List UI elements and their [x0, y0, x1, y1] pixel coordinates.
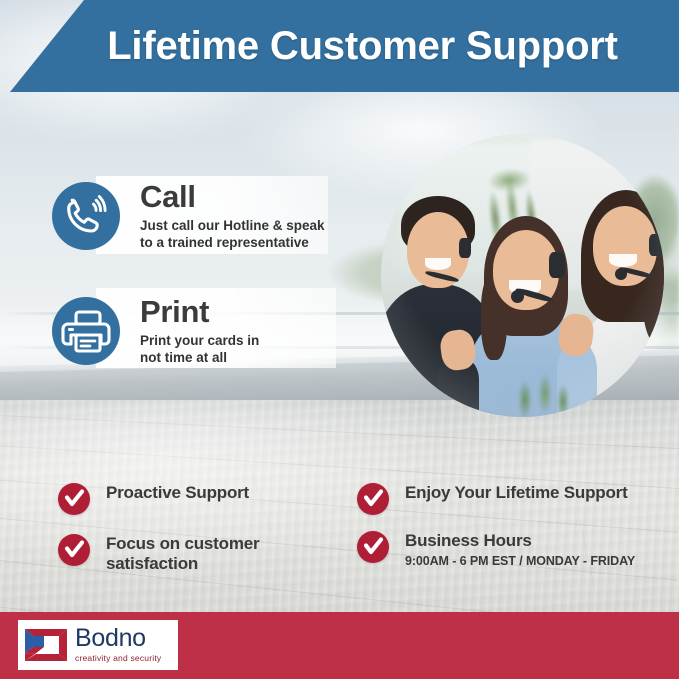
list-item[interactable]: Focus on customer satisfaction	[58, 534, 259, 574]
brand-tagline: creativity and security	[75, 653, 161, 663]
poster-canvas: Lifetime Customer Support Call Just call…	[0, 0, 679, 679]
feature-print-description: Print your cards in not time at all	[140, 333, 259, 367]
list-item-text: Focus on customer satisfaction	[106, 534, 259, 574]
brand-logo[interactable]: Bodno creativity and security	[18, 620, 178, 670]
list-item-title: Focus on customer satisfaction	[106, 534, 259, 574]
list-item[interactable]: Business Hours 9:00AM - 6 PM EST / MONDA…	[357, 531, 635, 569]
feature-call-description: Just call our Hotline & speak to a train…	[140, 218, 325, 252]
list-item-text: Enjoy Your Lifetime Support	[405, 483, 628, 503]
list-item-title: Business Hours	[405, 531, 635, 551]
list-item-text: Proactive Support	[106, 483, 249, 503]
team-photo	[381, 134, 664, 417]
list-item[interactable]: Proactive Support	[58, 483, 249, 515]
feature-print[interactable]: Print Print your cards in not time at al…	[52, 296, 259, 367]
check-circle-icon	[58, 534, 90, 566]
list-item-title: Enjoy Your Lifetime Support	[405, 483, 628, 503]
page-title: Lifetime Customer Support	[0, 0, 679, 92]
feature-print-heading: Print	[140, 296, 259, 327]
phone-call-icon	[52, 182, 120, 250]
brand-name: Bodno	[75, 627, 161, 651]
feature-print-text: Print Print your cards in not time at al…	[140, 296, 259, 367]
list-item-title: Proactive Support	[106, 483, 249, 503]
brand-logo-text: Bodno creativity and security	[75, 627, 161, 663]
feature-call[interactable]: Call Just call our Hotline & speak to a …	[52, 181, 325, 252]
list-item[interactable]: Enjoy Your Lifetime Support	[357, 483, 628, 515]
check-circle-icon	[357, 531, 389, 563]
list-item-subtitle: 9:00AM - 6 PM EST / MONDAY - FRIDAY	[405, 554, 635, 569]
printer-icon	[52, 297, 120, 365]
list-item-text: Business Hours 9:00AM - 6 PM EST / MONDA…	[405, 531, 635, 569]
feature-call-heading: Call	[140, 181, 325, 212]
feature-call-text: Call Just call our Hotline & speak to a …	[140, 181, 325, 252]
check-circle-icon	[58, 483, 90, 515]
bodno-logo-mark-icon	[24, 628, 68, 662]
check-circle-icon	[357, 483, 389, 515]
